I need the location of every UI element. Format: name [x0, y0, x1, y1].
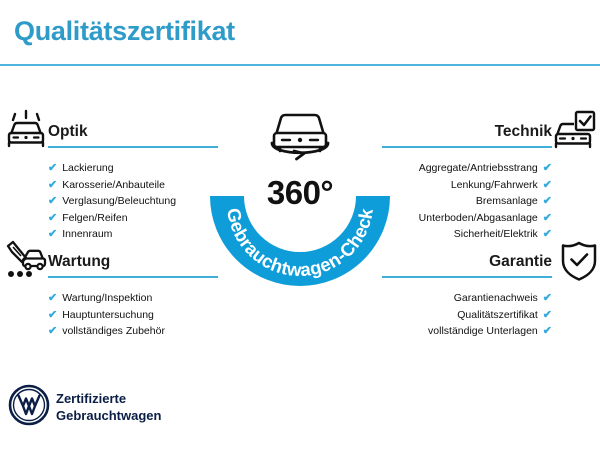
list-item-label: Hauptuntersuchung	[62, 307, 154, 324]
list-item: ✔Wartung/Inspektion	[48, 290, 218, 307]
check-icon: ✔	[48, 323, 57, 340]
list-item-label: Felgen/Reifen	[62, 210, 127, 227]
check-icon: ✔	[543, 307, 552, 324]
page-title: Qualitätszertifikat	[14, 16, 235, 47]
list-item: vollständige Unterlagen✔	[382, 323, 552, 340]
section-technik: Technik Aggregate/Antriebsstrang✔ Lenkun…	[382, 122, 552, 243]
section-optik: Optik ✔Lackierung ✔Karosserie/Anbauteile…	[48, 122, 218, 243]
list-item-label: Lenkung/Fahrwerk	[451, 177, 538, 194]
header-divider	[0, 64, 600, 66]
list-item: ✔Karosserie/Anbauteile	[48, 177, 218, 194]
list-item: Sicherheit/Elektrik✔	[382, 226, 552, 243]
list-item: Bremsanlage✔	[382, 193, 552, 210]
list-item-label: Qualitätszertifikat	[457, 307, 538, 324]
check-icon: ✔	[48, 290, 57, 307]
list-item-label: Aggregate/Antriebsstrang	[419, 160, 538, 177]
car-checklist-icon	[552, 108, 598, 154]
section-garantie-divider	[382, 276, 552, 278]
wrench-car-service-icon	[4, 238, 50, 284]
section-garantie-list: Garantienachweis✔ Qualitätszertifikat✔ v…	[382, 290, 552, 340]
list-item-label: Sicherheit/Elektrik	[454, 226, 538, 243]
list-item-label: vollständiges Zubehör	[62, 323, 165, 340]
check-icon: ✔	[48, 226, 57, 243]
list-item-label: Unterboden/Abgasanlage	[419, 210, 538, 227]
section-optik-divider	[48, 146, 218, 148]
list-item-label: Wartung/Inspektion	[62, 290, 152, 307]
section-technik-list: Aggregate/Antriebsstrang✔ Lenkung/Fahrwe…	[382, 160, 552, 243]
list-item: Qualitätszertifikat✔	[382, 307, 552, 324]
list-item: ✔Innenraum	[48, 226, 218, 243]
list-item-label: Bremsanlage	[476, 193, 538, 210]
list-item: Aggregate/Antriebsstrang✔	[382, 160, 552, 177]
list-item: ✔Felgen/Reifen	[48, 210, 218, 227]
section-technik-divider	[382, 146, 552, 148]
shield-check-icon	[556, 238, 600, 284]
list-item: Lenkung/Fahrwerk✔	[382, 177, 552, 194]
quality-certificate-page: Qualitätszertifikat	[0, 0, 600, 450]
section-optik-list: ✔Lackierung ✔Karosserie/Anbauteile ✔Verg…	[48, 160, 218, 243]
check-icon: ✔	[543, 177, 552, 194]
footer-brand-text: Zertifizierte Gebrauchtwagen	[56, 390, 161, 424]
list-item-label: Lackierung	[62, 160, 113, 177]
list-item: ✔Verglasung/Beleuchtung	[48, 193, 218, 210]
check-icon: ✔	[48, 177, 57, 194]
section-wartung-divider	[48, 276, 218, 278]
check-icon: ✔	[48, 160, 57, 177]
section-wartung-title: Wartung	[48, 252, 218, 272]
check-icon: ✔	[543, 226, 552, 243]
list-item: Garantienachweis✔	[382, 290, 552, 307]
list-item: ✔Hauptuntersuchung	[48, 307, 218, 324]
section-technik-header: Technik	[382, 122, 552, 152]
list-item: ✔vollständiges Zubehör	[48, 323, 218, 340]
section-optik-header: Optik	[48, 122, 218, 152]
list-item-label: Verglasung/Beleuchtung	[62, 193, 176, 210]
badge-360-gebrauchtwagen-check: Gebrauchtwagen-Check 360°	[203, 96, 397, 290]
volkswagen-logo	[8, 384, 50, 426]
section-garantie-title: Garantie	[382, 252, 552, 272]
section-wartung: Wartung ✔Wartung/Inspektion ✔Hauptunters…	[48, 252, 218, 340]
list-item-label: vollständige Unterlagen	[428, 323, 538, 340]
section-garantie-header: Garantie	[382, 252, 552, 282]
section-wartung-list: ✔Wartung/Inspektion ✔Hauptuntersuchung ✔…	[48, 290, 218, 340]
footer-line-1: Zertifizierte	[56, 390, 161, 407]
section-optik-title: Optik	[48, 122, 218, 142]
section-wartung-header: Wartung	[48, 252, 218, 282]
footer-line-2: Gebrauchtwagen	[56, 407, 161, 424]
list-item-label: Karosserie/Anbauteile	[62, 177, 165, 194]
check-icon: ✔	[48, 210, 57, 227]
check-icon: ✔	[543, 210, 552, 227]
list-item-label: Garantienachweis	[454, 290, 538, 307]
section-garantie: Garantie Garantienachweis✔ Qualitätszert…	[382, 252, 552, 340]
car-rotate-360-icon	[260, 101, 340, 163]
check-icon: ✔	[48, 307, 57, 324]
check-icon: ✔	[543, 160, 552, 177]
check-icon: ✔	[543, 323, 552, 340]
car-headlights-icon	[4, 108, 50, 154]
section-technik-title: Technik	[382, 122, 552, 142]
list-item-label: Innenraum	[62, 226, 112, 243]
check-icon: ✔	[543, 193, 552, 210]
list-item: Unterboden/Abgasanlage✔	[382, 210, 552, 227]
check-icon: ✔	[543, 290, 552, 307]
check-icon: ✔	[48, 193, 57, 210]
list-item: ✔Lackierung	[48, 160, 218, 177]
